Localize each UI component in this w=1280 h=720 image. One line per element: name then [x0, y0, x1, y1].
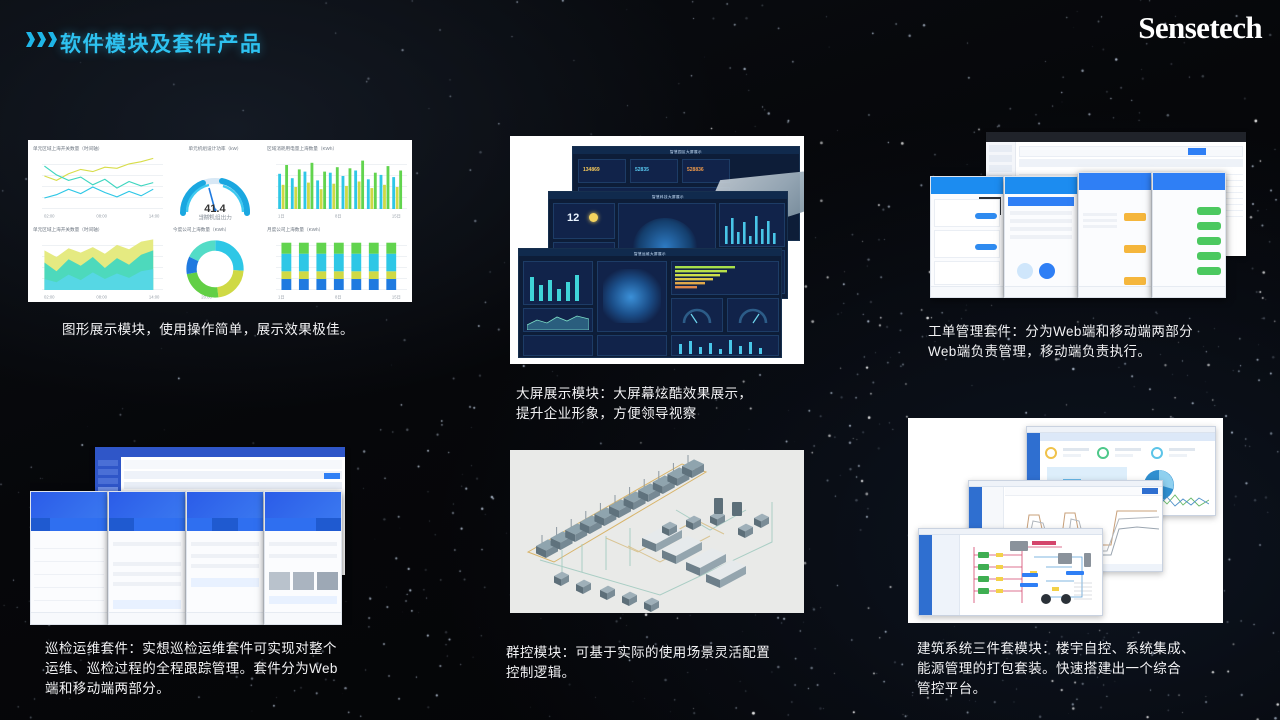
caption-building: 建筑系统三件套模块：楼宇自控、系统集成、 能源管理的打包套装。快速搭建出一个综合… [917, 639, 1195, 699]
panel-gauge: 单元机组设计功率（kW） 41.4 当前机组出力 [168, 140, 262, 221]
inspection-phone-4 [264, 491, 342, 625]
sun-icon [589, 213, 598, 222]
workorder-phone-1 [930, 176, 1004, 298]
panel-grouped-bar: 区域消耗用电量上海数量（KWh） 1日8日15日22日 [262, 140, 412, 221]
workorder-phone-2 [1004, 176, 1078, 298]
kpi-value-1: 134869 [583, 167, 600, 173]
screen-title: 智慧运维大屏展示 [519, 250, 781, 257]
kpi-value-2: 52835 [635, 167, 649, 173]
gauge-icon [681, 303, 713, 327]
caption-graphic-display: 图形展示模块，使用操作简单，展示效果极佳。 [62, 320, 354, 340]
bar-chart-bottom [675, 338, 775, 354]
kpi-value-3: 528836 [687, 167, 704, 173]
panel-line-chart: 单元区域上海开关数量（时间轴） 02:0008:0014:0020:00 [28, 140, 168, 221]
big-screen-c: 智慧运维大屏展示 [518, 248, 782, 358]
window-titlebar [986, 132, 1246, 142]
bar-chart-small [527, 271, 587, 301]
donut-chart [184, 238, 246, 300]
phone-header [109, 492, 185, 518]
area-sparkline [527, 312, 589, 330]
building-module-screenshot[interactable] [908, 418, 1223, 623]
panel-donut-chart: 今度公司上海数量（KWh） [168, 221, 262, 302]
window-titlebar [95, 447, 345, 457]
scada-schematic-window [918, 528, 1103, 616]
slide-header: 软件模块及套件产品 Sensetech [0, 0, 1280, 62]
graphic-display-module-screenshot[interactable]: 单元区域上海开关数量（时间轴） 02:0008:0014:0020:00 单元机… [28, 140, 412, 302]
gauge-icon [737, 303, 769, 327]
workorder-phone-3 [1078, 172, 1152, 298]
caption-inspection: 巡检运维套件：实想巡检运维套件可实现对整个 运维、巡检过程的全程跟踪管理。套件分… [45, 639, 338, 699]
brand-logo: Sensetech [1138, 10, 1262, 46]
plant-schematic [962, 537, 1100, 613]
panel-title: 区域消耗用电量上海数量（KWh） [267, 144, 412, 151]
phone-header [931, 177, 1003, 194]
phone-header [1079, 173, 1151, 190]
inspection-phone-1 [30, 491, 108, 625]
triple-chevron-right-icon [26, 32, 57, 47]
panel-title: 月度公司上海数量（KWh） [267, 225, 412, 232]
inspection-phone-2 [108, 491, 186, 625]
horizontal-bars [675, 265, 763, 292]
slide-root: 软件模块及套件产品 Sensetech 单元区域上海开关数量（时间轴） 02:0… [0, 0, 1280, 720]
caption-workorder: 工单管理套件：分为Web端和移动端两部分 Web端负责管理，移动端负责执行。 [928, 322, 1193, 362]
group-control-module-screenshot[interactable] [510, 450, 804, 613]
inspection-suite-screenshot[interactable] [30, 445, 360, 625]
inspection-phone-3 [186, 491, 264, 625]
weather-temperature: 12 [567, 212, 579, 224]
page-title: 软件模块及套件产品 [60, 28, 263, 58]
bar-sparkline [723, 212, 781, 244]
panel-stacked-bar: 月度公司上海数量（KWh） 1日8日15日22日 [262, 221, 412, 302]
phone-header [187, 492, 263, 518]
panel-title: 单元机组设计功率（kW） [154, 144, 276, 151]
phone-header [31, 492, 107, 518]
map-visualization [603, 269, 661, 323]
caption-big-screen: 大屏展示模块：大屏幕炫酷效果展示， 提升企业形象，方便领导视察 [516, 384, 752, 424]
phone-header [1005, 177, 1077, 194]
isometric-chiller-plant-schematic [510, 450, 804, 613]
workorder-phone-4 [1152, 172, 1226, 298]
phone-header [1153, 173, 1225, 190]
screen-title: 智慧园区大屏展示 [573, 148, 799, 155]
big-screen-module-screenshot[interactable]: 智慧园区大屏展示 134869 52835 528836 智慧科技大屏展示 12 [510, 136, 804, 364]
phone-header [265, 492, 341, 518]
panel-area-chart: 单元区域上海开关数量（时间轴） 02:0008:0014:0020:00 [28, 221, 168, 302]
workorder-suite-screenshot[interactable] [930, 128, 1250, 308]
caption-group-control: 群控模块：可基于实际的使用场景灵活配置 控制逻辑。 [506, 643, 770, 683]
screen-title: 智慧科技大屏展示 [549, 193, 787, 200]
